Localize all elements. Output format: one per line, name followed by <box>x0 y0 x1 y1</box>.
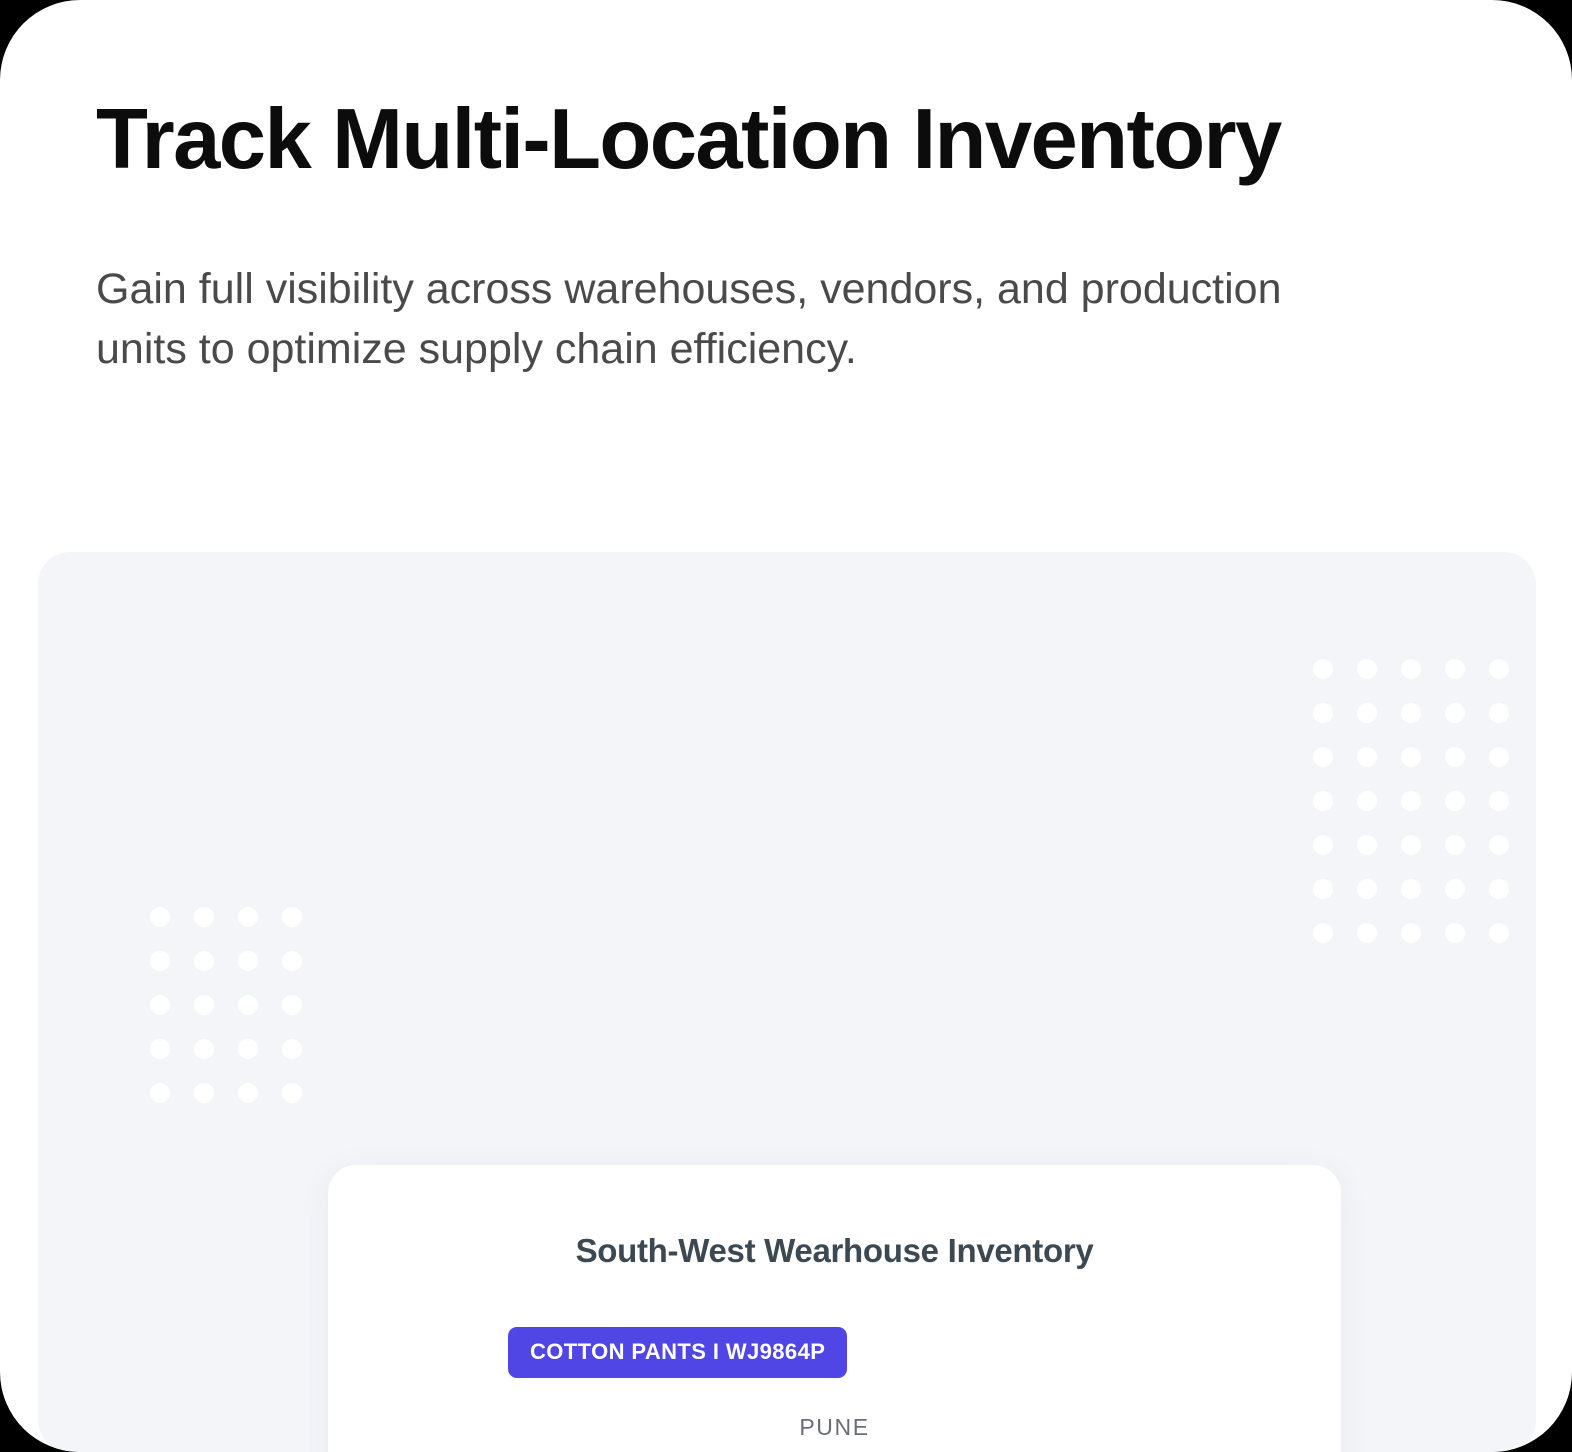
decor-dot <box>1357 747 1377 767</box>
right-dot-pattern-decor <box>1313 659 1509 943</box>
decor-dot <box>1401 703 1421 723</box>
decor-dot <box>1445 923 1465 943</box>
decor-dot <box>1489 703 1509 723</box>
decor-dot <box>282 1083 302 1103</box>
decor-dot <box>194 995 214 1015</box>
decor-dot <box>1445 659 1465 679</box>
decor-dot <box>282 995 302 1015</box>
decor-dot <box>1445 835 1465 855</box>
decor-dot <box>1313 659 1333 679</box>
decor-dot <box>1357 835 1377 855</box>
page-title: Track Multi-Location Inventory <box>96 96 1516 184</box>
decor-dot <box>150 1039 170 1059</box>
decor-dot <box>150 995 170 1015</box>
decor-dot <box>194 1083 214 1103</box>
decor-dot <box>238 995 258 1015</box>
decor-dot <box>1401 879 1421 899</box>
decor-dot <box>1445 747 1465 767</box>
decor-dot <box>1313 703 1333 723</box>
decor-dot <box>238 951 258 971</box>
showcase-panel: South-West Wearhouse Inventory COTTON PA… <box>38 552 1536 1452</box>
decor-dot <box>194 1039 214 1059</box>
hero-section: Track Multi-Location Inventory Gain full… <box>96 96 1516 379</box>
decor-dot <box>194 907 214 927</box>
decor-dot <box>1313 835 1333 855</box>
decor-dot <box>1313 791 1333 811</box>
decor-dot <box>1401 791 1421 811</box>
decor-dot <box>1357 923 1377 943</box>
decor-dot <box>150 951 170 971</box>
decor-dot <box>1401 747 1421 767</box>
page-root: Track Multi-Location Inventory Gain full… <box>0 0 1572 1452</box>
decor-dot <box>1445 879 1465 899</box>
decor-dot <box>282 1039 302 1059</box>
page-subtitle: Gain full visibility across warehouses, … <box>96 260 1356 379</box>
decor-dot <box>1357 659 1377 679</box>
decor-dot <box>282 951 302 971</box>
decor-dot <box>238 1083 258 1103</box>
decor-dot <box>1489 791 1509 811</box>
decor-dot <box>1489 659 1509 679</box>
decor-dot <box>282 907 302 927</box>
decor-dot <box>1489 879 1509 899</box>
decor-dot <box>1489 747 1509 767</box>
decor-dot <box>1313 879 1333 899</box>
decor-dot <box>1401 923 1421 943</box>
decor-dot <box>238 907 258 927</box>
decor-dot <box>1357 703 1377 723</box>
decor-dot <box>1489 835 1509 855</box>
decor-dot <box>1445 703 1465 723</box>
decor-dot <box>1313 923 1333 943</box>
radar-chart-svg <box>328 1165 1341 1452</box>
left-dot-pattern-decor <box>150 907 302 1103</box>
decor-dot <box>1401 835 1421 855</box>
axis-label-pune: PUNE <box>799 1414 869 1441</box>
decor-dot <box>1357 791 1377 811</box>
decor-dot <box>194 951 214 971</box>
inventory-card: South-West Wearhouse Inventory COTTON PA… <box>328 1165 1341 1452</box>
radar-chart: PUNE MUMBAI HYDERABAD CHENNAI SURAT <box>328 1165 1341 1452</box>
decor-dot <box>150 907 170 927</box>
decor-dot <box>1489 923 1509 943</box>
decor-dot <box>1401 659 1421 679</box>
decor-dot <box>1445 791 1465 811</box>
decor-dot <box>1357 879 1377 899</box>
decor-dot <box>238 1039 258 1059</box>
decor-dot <box>1313 747 1333 767</box>
decor-dot <box>150 1083 170 1103</box>
